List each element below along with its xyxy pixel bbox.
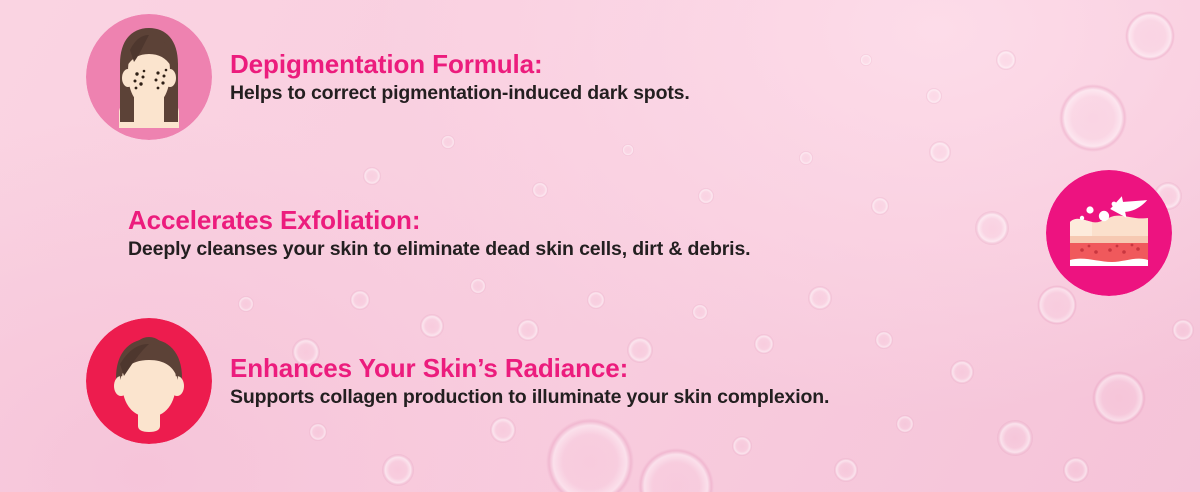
radiant-face-icon (86, 318, 212, 444)
benefit-description: Supports collagen production to illumina… (230, 386, 829, 409)
face-with-dark-spots-icon (86, 14, 212, 140)
benefit-description: Deeply cleanses your skin to eliminate d… (128, 238, 750, 261)
benefit-row-exfoliation: Accelerates Exfoliation: Deeply cleanses… (128, 170, 1172, 296)
benefit-text-exfoliation: Accelerates Exfoliation: Deeply cleanses… (128, 205, 750, 262)
benefits-list: Depigmentation Formula: Helps to correct… (0, 0, 1200, 492)
skin-layers-exfoliation-icon (1046, 170, 1172, 296)
benefit-title: Depigmentation Formula: (230, 49, 690, 80)
skincare-benefits-banner: Depigmentation Formula: Helps to correct… (0, 0, 1200, 492)
benefit-description: Helps to correct pigmentation-induced da… (230, 82, 690, 105)
benefit-text-depigmentation: Depigmentation Formula: Helps to correct… (212, 49, 690, 106)
benefit-title: Accelerates Exfoliation: (128, 205, 750, 236)
benefit-title: Enhances Your Skin’s Radiance: (230, 353, 829, 384)
benefit-text-radiance: Enhances Your Skin’s Radiance: Supports … (212, 353, 829, 410)
benefit-row-radiance: Enhances Your Skin’s Radiance: Supports … (86, 318, 829, 444)
benefit-row-depigmentation: Depigmentation Formula: Helps to correct… (86, 14, 690, 140)
